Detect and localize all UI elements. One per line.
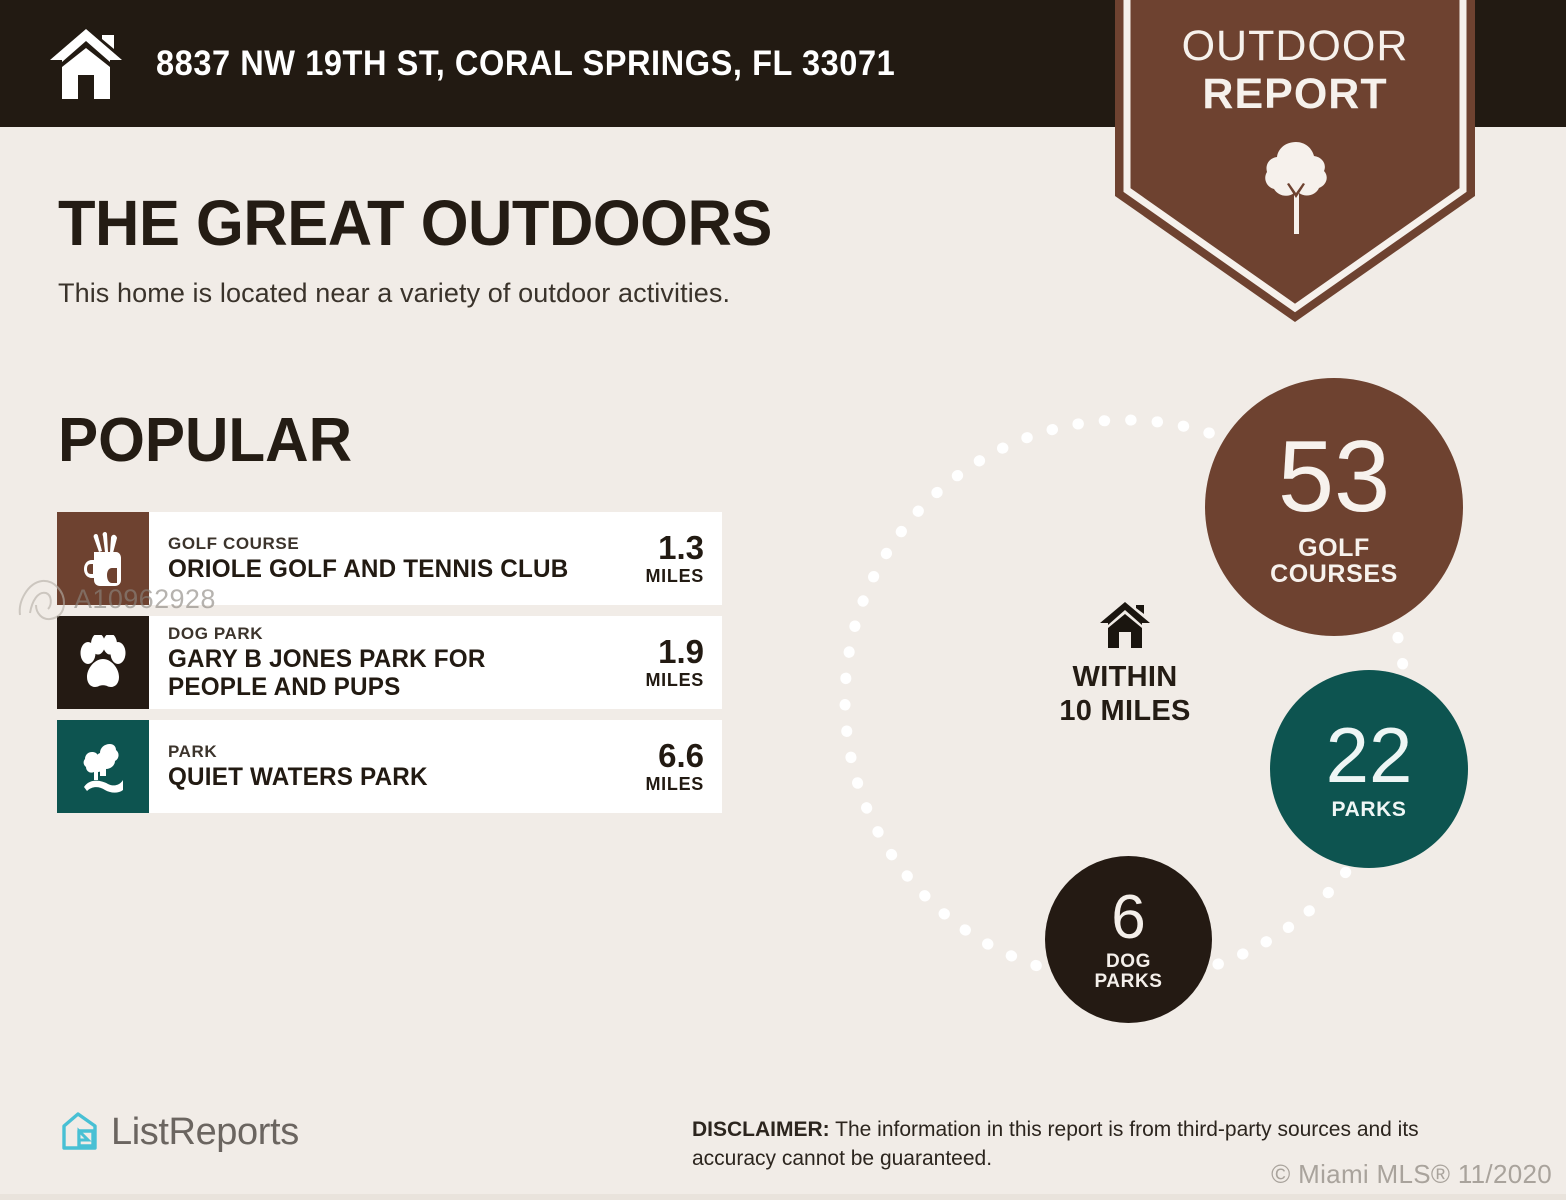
park-trees-icon bbox=[76, 740, 130, 794]
stat-label: GOLF COURSES bbox=[1270, 535, 1398, 588]
mls-copyright-watermark: © Miami MLS® 11/2020 bbox=[1271, 1159, 1552, 1190]
item-icon-tile bbox=[57, 720, 149, 813]
popular-list: GOLF COURSE ORIOLE GOLF AND TENNIS CLUB … bbox=[57, 512, 722, 824]
stat-label-line1: PARKS bbox=[1332, 799, 1407, 821]
outdoor-report-badge: OUTDOOR REPORT bbox=[1115, 0, 1475, 322]
property-address: 8837 NW 19TH ST, CORAL SPRINGS, FL 33071 bbox=[156, 44, 895, 84]
stats-cluster: 53 GOLF COURSES 22 PARKS 6 DOG PARKS WIT… bbox=[820, 350, 1520, 1050]
item-name: QUIET WATERS PARK bbox=[168, 763, 591, 791]
tree-icon bbox=[1263, 140, 1329, 236]
listreports-house-icon bbox=[56, 1110, 100, 1154]
item-distance-unit: MILES bbox=[645, 773, 704, 795]
item-distance-value: 1.3 bbox=[658, 531, 704, 565]
item-category: GOLF COURSE bbox=[168, 534, 604, 553]
item-distance-value: 6.6 bbox=[658, 739, 704, 773]
home-icon bbox=[44, 27, 128, 101]
item-distance: 1.9 MILES bbox=[608, 616, 722, 709]
item-distance-unit: MILES bbox=[645, 669, 704, 691]
list-item[interactable]: DOG PARK GARY B JONES PARK FOR PEOPLE AN… bbox=[57, 616, 722, 709]
listreports-logo-text: ListReports bbox=[111, 1111, 299, 1154]
center-marker: WITHIN 10 MILES bbox=[1025, 600, 1225, 728]
paw-icon bbox=[77, 635, 129, 691]
item-category: DOG PARK bbox=[168, 624, 604, 643]
page-title: THE GREAT OUTDOORS bbox=[58, 186, 772, 260]
stat-value: 53 bbox=[1278, 427, 1390, 528]
center-line-1: WITHIN bbox=[1025, 660, 1225, 694]
item-body: PARK QUIET WATERS PARK bbox=[149, 720, 608, 813]
item-body: DOG PARK GARY B JONES PARK FOR PEOPLE AN… bbox=[149, 616, 608, 709]
center-line-2: 10 MILES bbox=[1025, 694, 1225, 728]
item-name: GARY B JONES PARK FOR PEOPLE AND PUPS bbox=[168, 645, 591, 701]
stat-label-line1: DOG bbox=[1094, 952, 1162, 972]
disclaimer-label: DISCLAIMER: bbox=[692, 1118, 830, 1141]
item-distance: 6.6 MILES bbox=[608, 720, 722, 813]
stat-label: DOG PARKS bbox=[1094, 952, 1162, 992]
stat-label-line1: GOLF bbox=[1270, 535, 1398, 561]
stat-value: 6 bbox=[1111, 887, 1145, 949]
item-distance-value: 1.9 bbox=[658, 635, 704, 669]
golf-bag-icon bbox=[78, 530, 128, 588]
item-body: GOLF COURSE ORIOLE GOLF AND TENNIS CLUB bbox=[149, 512, 608, 605]
item-distance: 1.3 MILES bbox=[608, 512, 722, 605]
item-icon-tile bbox=[57, 512, 149, 605]
item-icon-tile bbox=[57, 616, 149, 709]
bottom-strip bbox=[0, 1194, 1566, 1200]
listreports-logo[interactable]: ListReports bbox=[56, 1110, 299, 1154]
item-distance-unit: MILES bbox=[645, 565, 704, 587]
section-title-popular: POPULAR bbox=[58, 405, 352, 476]
stat-circle-dog-parks[interactable]: 6 DOG PARKS bbox=[1045, 856, 1212, 1023]
stat-label-line2: COURSES bbox=[1270, 561, 1398, 587]
home-icon bbox=[1097, 600, 1153, 650]
stat-label-line2: PARKS bbox=[1094, 972, 1162, 992]
stat-circle-golf-courses[interactable]: 53 GOLF COURSES bbox=[1205, 378, 1463, 636]
stat-value: 22 bbox=[1326, 716, 1413, 794]
list-item[interactable]: PARK QUIET WATERS PARK 6.6 MILES bbox=[57, 720, 722, 813]
page-subtitle: This home is located near a variety of o… bbox=[58, 278, 730, 309]
item-name: ORIOLE GOLF AND TENNIS CLUB bbox=[168, 555, 591, 583]
list-item[interactable]: GOLF COURSE ORIOLE GOLF AND TENNIS CLUB … bbox=[57, 512, 722, 605]
stat-label: PARKS bbox=[1332, 799, 1407, 821]
stat-circle-parks[interactable]: 22 PARKS bbox=[1270, 670, 1468, 868]
item-category: PARK bbox=[168, 742, 604, 761]
